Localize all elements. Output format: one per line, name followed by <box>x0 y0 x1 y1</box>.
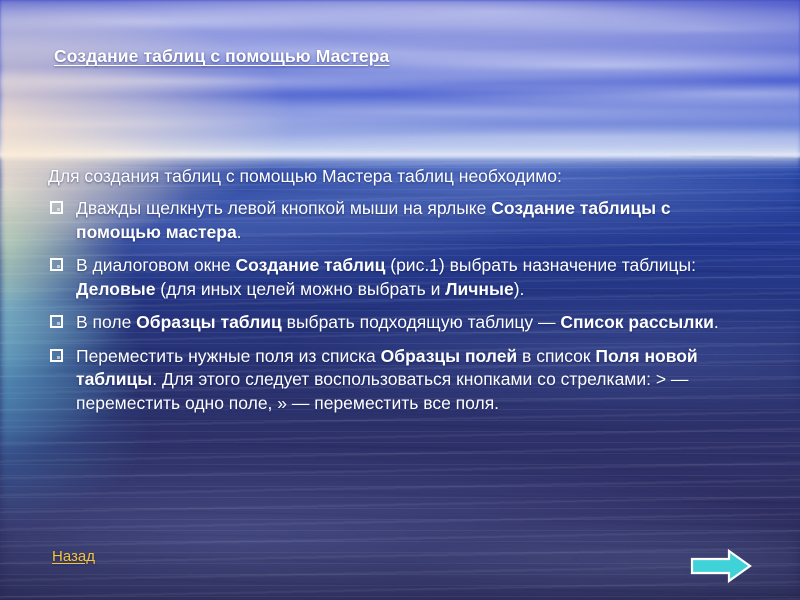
plain-text-run: выбрать подходящую таблицу — <box>282 312 561 332</box>
slide-title: Создание таблиц с помощью Мастера <box>54 46 389 67</box>
plain-text-run: в список <box>517 346 595 366</box>
emphasized-term: Создание таблиц <box>236 255 386 275</box>
plain-text-run: . <box>237 222 242 242</box>
bullet-dialog-purpose: В диалоговом окне Создание таблиц (рис.1… <box>48 254 760 301</box>
list-item-text: В поле Образцы таблиц выбрать подходящую… <box>76 312 719 332</box>
hollow-square-bullet-icon <box>50 349 63 362</box>
bullet-list: Дважды щелкнуть левой кнопкой мыши на яр… <box>48 197 760 415</box>
slide-body: Для создания таблиц с помощью Мастера та… <box>48 164 760 415</box>
plain-text-run: (рис.1) выбрать назначение таблицы: <box>385 255 696 275</box>
plain-text-run: . <box>714 312 719 332</box>
list-item-text: Дважды щелкнуть левой кнопкой мыши на яр… <box>76 198 671 242</box>
emphasized-term: Деловые <box>76 279 155 299</box>
emphasized-term: Личные <box>445 279 513 299</box>
bullet-double-click-shortcut: Дважды щелкнуть левой кнопкой мыши на яр… <box>48 197 760 244</box>
presentation-slide: Создание таблиц с помощью Мастера Для со… <box>0 0 800 600</box>
plain-text-run: В поле <box>76 312 136 332</box>
bullet-move-fields: Переместить нужные поля из списка Образц… <box>48 345 760 416</box>
plain-text-run: В диалоговом окне <box>76 255 236 275</box>
list-item-text: Переместить нужные поля из списка Образц… <box>76 346 698 413</box>
plain-text-run: (для иных целей можно выбрать и <box>155 279 445 299</box>
bullet-sample-tables-field: В поле Образцы таблиц выбрать подходящую… <box>48 311 760 335</box>
plain-text-run: Переместить нужные поля из списка <box>76 346 381 366</box>
hollow-square-bullet-icon <box>50 258 63 271</box>
emphasized-term: Образцы полей <box>381 346 518 366</box>
next-slide-button[interactable] <box>689 548 753 584</box>
emphasized-term: Образцы таблиц <box>136 312 282 332</box>
plain-text-run: . Для этого следует воспользоваться кноп… <box>76 369 688 413</box>
arrow-right-icon <box>689 548 753 584</box>
list-item-text: В диалоговом окне Создание таблиц (рис.1… <box>76 255 696 299</box>
hollow-square-bullet-icon <box>50 201 63 214</box>
intro-paragraph: Для создания таблиц с помощью Мастера та… <box>48 164 760 188</box>
slide-content: Создание таблиц с помощью Мастера Для со… <box>0 0 800 600</box>
plain-text-run: Дважды щелкнуть левой кнопкой мыши на яр… <box>76 198 491 218</box>
plain-text-run: ). <box>514 279 525 299</box>
back-link[interactable]: Назад <box>52 548 95 565</box>
hollow-square-bullet-icon <box>50 315 63 328</box>
emphasized-term: Список рассылки <box>560 312 713 332</box>
